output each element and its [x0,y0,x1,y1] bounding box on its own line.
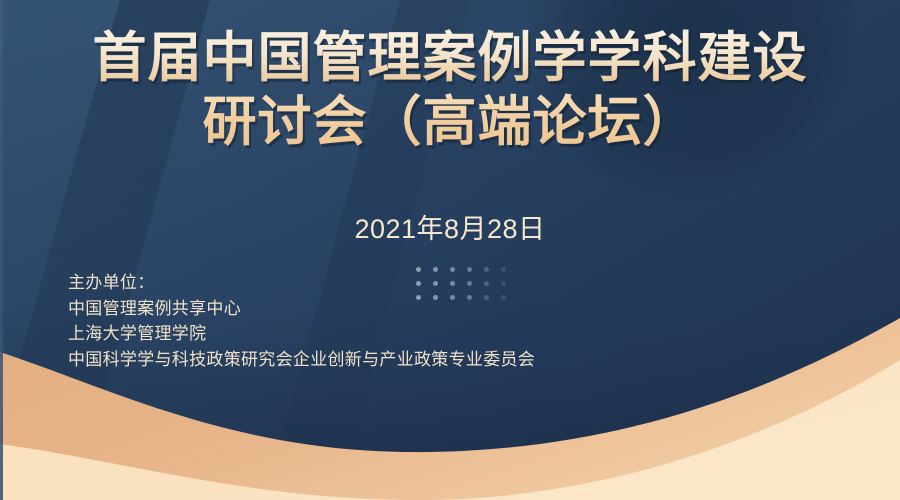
event-date: 2021年8月28日 [0,211,900,247]
organizer-item-2: 上海大学管理学院 [68,321,535,347]
organizer-item-3: 中国科学学与科技政策研究会企业创新与产业政策专业委员会 [68,347,535,373]
organizer-item-1: 中国管理案例共享中心 [68,296,535,322]
title-line-2: 研讨会（高端论坛） [0,90,900,154]
page-title: 首届中国管理案例学学科建设 研讨会（高端论坛） [0,26,900,154]
title-line-1: 首届中国管理案例学学科建设 [0,26,900,90]
poster-canvas: 首届中国管理案例学学科建设 研讨会（高端论坛） 2021年8月28日 主办单位：… [0,0,900,500]
organizers-block: 主办单位： 中国管理案例共享中心 上海大学管理学院 中国科学学与科技政策研究会企… [68,270,535,372]
organizers-label: 主办单位： [68,270,535,296]
poster-content: 首届中国管理案例学学科建设 研讨会（高端论坛） 2021年8月28日 主办单位：… [0,0,900,500]
